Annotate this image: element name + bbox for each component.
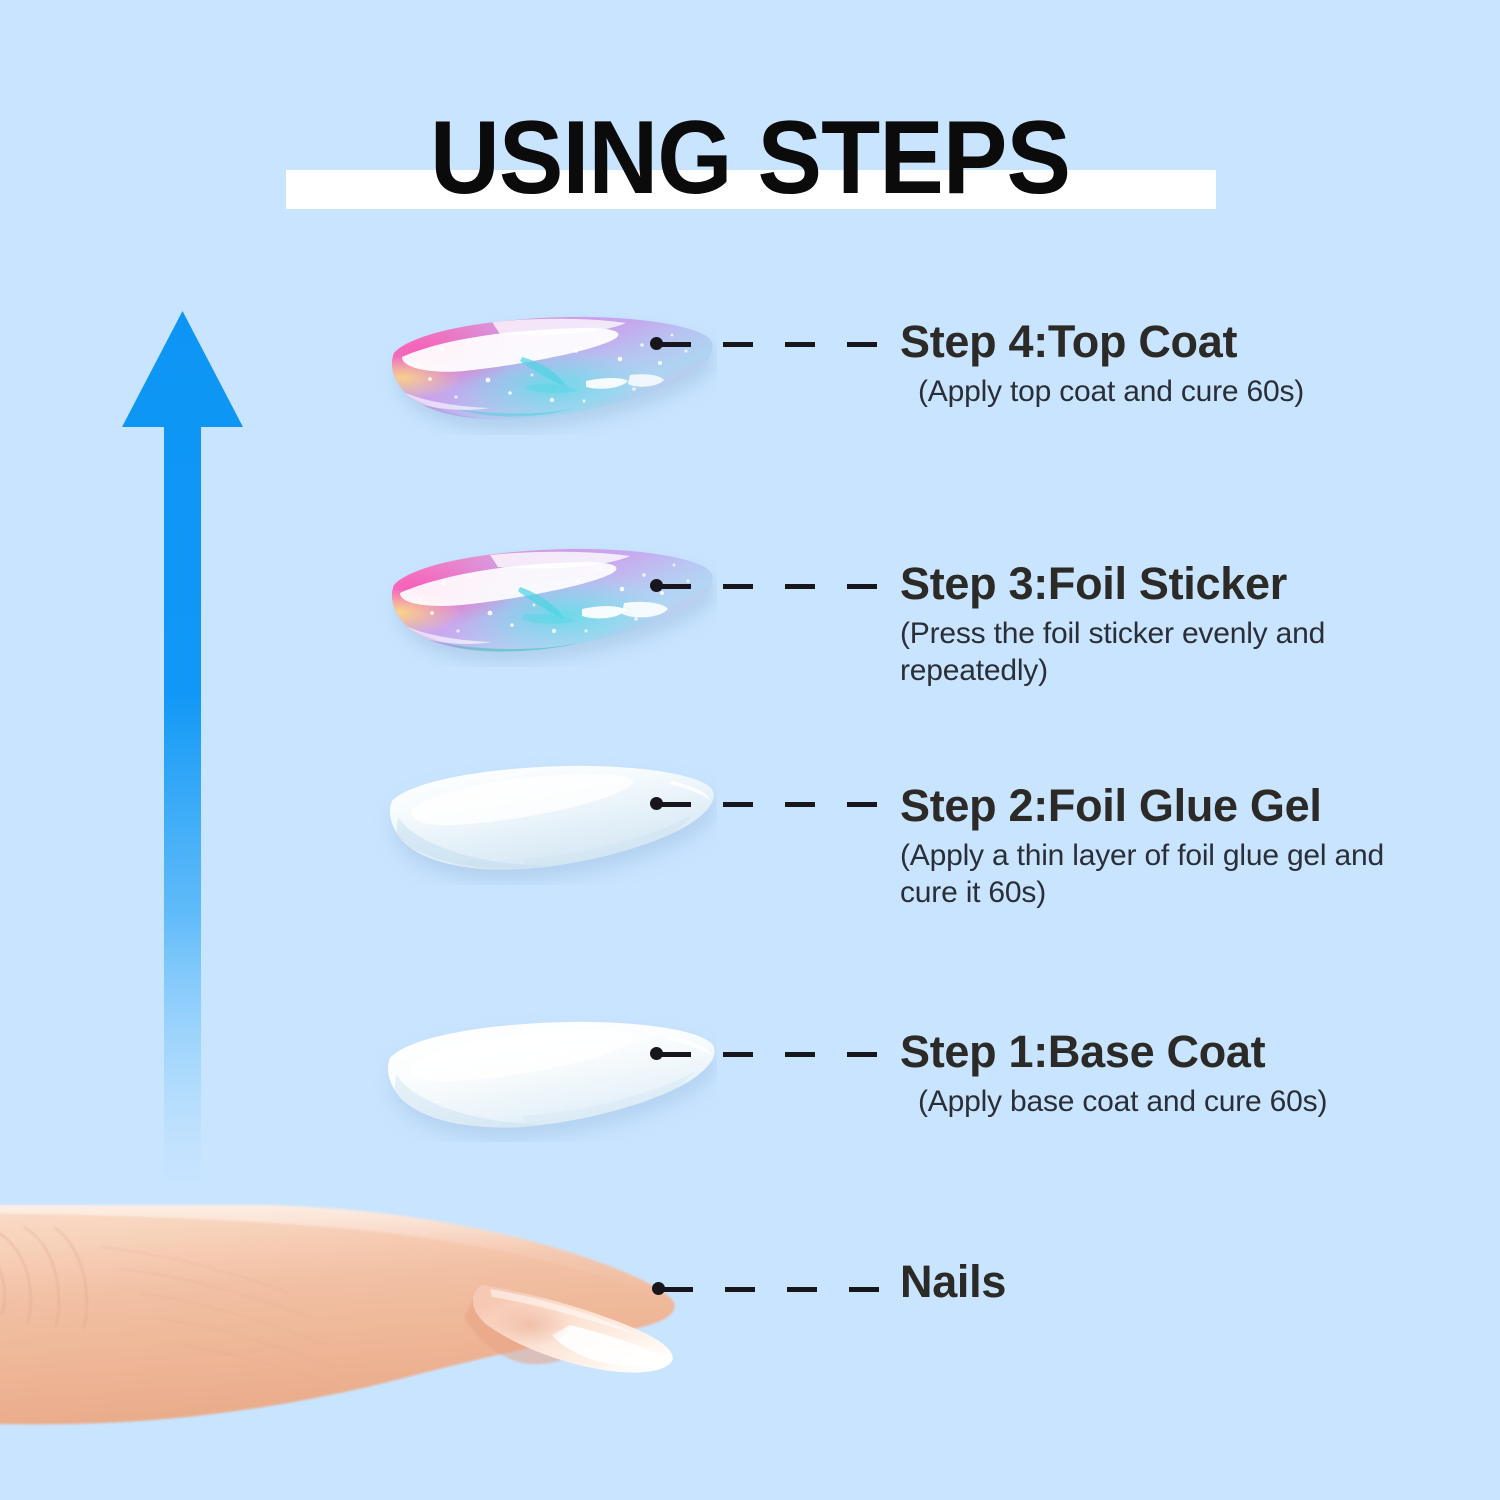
- clear-gel-nail-base-icon: [372, 1012, 717, 1142]
- step-3-subtitle-line: repeatedly): [900, 653, 1325, 690]
- leader-line-step-3: [650, 575, 896, 595]
- step-3-label-group: Step 3:Foil Sticker (Press the foil stic…: [900, 560, 1325, 689]
- page-title: USING STEPS: [53, 104, 1448, 213]
- step-4-subtitle: (Apply top coat and cure 60s): [918, 374, 1304, 411]
- leader-line-step-4: [650, 333, 896, 353]
- step-4-title: Step 4:Top Coat: [900, 318, 1304, 365]
- step-2-subtitle-line: (Apply a thin layer of foil glue gel and: [900, 838, 1384, 875]
- galaxy-nail-foil-sticker-icon: [372, 537, 717, 667]
- step-3-title: Step 3:Foil Sticker: [900, 560, 1325, 607]
- step-3-subtitle-line: (Press the foil sticker evenly and: [900, 616, 1325, 653]
- step-2-title: Step 2:Foil Glue Gel: [900, 782, 1384, 829]
- step-1-title: Step 1:Base Coat: [900, 1028, 1327, 1075]
- step-4-subtitle-line: (Apply top coat and cure 60s): [918, 374, 1304, 411]
- finger-with-natural-nail: [0, 1175, 710, 1500]
- nails-title: Nails: [900, 1258, 1006, 1305]
- step-1-label-group: Step 1:Base Coat (Apply base coat and cu…: [900, 1028, 1327, 1121]
- step-2-subtitle: (Apply a thin layer of foil glue gel and…: [900, 838, 1384, 911]
- leader-dashes: [661, 1052, 896, 1057]
- leader-dashes: [661, 802, 896, 807]
- step-1-subtitle: (Apply base coat and cure 60s): [918, 1084, 1327, 1121]
- leader-dashes: [661, 584, 896, 589]
- galaxy-nail-top-coat-icon: [372, 305, 717, 435]
- leader-line-step-1: [650, 1043, 896, 1063]
- step-4-label-group: Step 4:Top Coat (Apply top coat and cure…: [900, 318, 1304, 411]
- step-2-subtitle-line: cure it 60s): [900, 875, 1384, 912]
- clear-gel-nail-glue-icon: [372, 755, 717, 885]
- up-arrow-icon: [110, 305, 255, 1225]
- leader-line-step-2: [650, 793, 896, 813]
- step-3-subtitle: (Press the foil sticker evenly and repea…: [900, 616, 1325, 689]
- leader-dashes: [663, 1287, 898, 1292]
- leader-dashes: [661, 342, 896, 347]
- infographic-canvas: USING STEPS: [0, 0, 1500, 1500]
- nails-label-group: Nails: [900, 1258, 1006, 1305]
- step-1-subtitle-line: (Apply base coat and cure 60s): [918, 1084, 1327, 1121]
- step-2-label-group: Step 2:Foil Glue Gel (Apply a thin layer…: [900, 782, 1384, 911]
- leader-line-nails: [652, 1278, 898, 1298]
